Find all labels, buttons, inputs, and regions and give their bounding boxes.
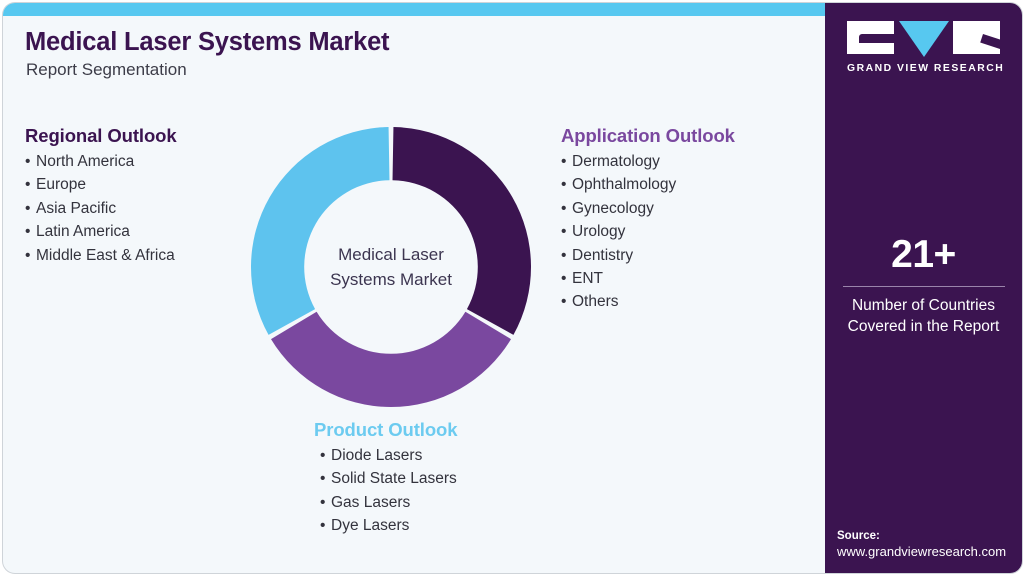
list-item-label: Asia Pacific — [36, 200, 116, 217]
logo-letter-g-icon — [847, 21, 894, 54]
list-item-label: Diode Lasers — [331, 447, 422, 464]
list-item-label: Solid State Lasers — [331, 470, 457, 487]
bullet-icon: • — [320, 514, 331, 537]
grand-view-research-logo: GRAND VIEW RESEARCH — [847, 21, 1000, 74]
application-outlook-heading: Application Outlook — [561, 125, 735, 147]
list-item-label: Latin America — [36, 223, 130, 240]
list-item: •North America — [25, 150, 177, 173]
bullet-icon: • — [561, 197, 572, 220]
list-item: •Latin America — [25, 220, 177, 243]
application-outlook-list: •Dermatology •Ophthalmology •Gynecology … — [561, 150, 735, 314]
page-subtitle: Report Segmentation — [26, 60, 187, 80]
infographic-root: Medical Laser Systems Market Report Segm… — [0, 0, 1025, 576]
list-item-label: Urology — [572, 223, 625, 240]
page-title: Medical Laser Systems Market — [25, 28, 389, 57]
product-outlook-list: •Diode Lasers •Solid State Lasers •Gas L… — [320, 444, 457, 538]
stat-label-line1: Number of Countries — [825, 296, 1022, 317]
logo-letter-v-icon — [899, 21, 949, 57]
product-outlook-block: Product Outlook •Diode Lasers •Solid Sta… — [314, 419, 457, 538]
list-item-label: Ophthalmology — [572, 176, 676, 193]
bullet-icon: • — [561, 290, 572, 313]
list-item: •Dye Lasers — [320, 514, 457, 537]
list-item-label: Dentistry — [572, 247, 633, 264]
bullet-icon: • — [561, 267, 572, 290]
donut-segment[interactable] — [271, 312, 511, 407]
donut-segment[interactable] — [251, 127, 389, 335]
logo-wordmark: GRAND VIEW RESEARCH — [847, 63, 1000, 74]
bullet-icon: • — [320, 444, 331, 467]
stat-divider — [843, 286, 1005, 287]
list-item: •Europe — [25, 173, 177, 196]
list-item-label: Others — [572, 293, 619, 310]
source-url[interactable]: www.grandviewresearch.com — [837, 544, 1022, 559]
report-card: Medical Laser Systems Market Report Segm… — [3, 3, 1022, 573]
donut-svg — [249, 125, 533, 409]
stat-value: 21+ — [825, 235, 1022, 274]
donut-segment[interactable] — [393, 127, 531, 335]
list-item: •Others — [561, 290, 735, 313]
bullet-icon: • — [561, 244, 572, 267]
bullet-icon: • — [25, 244, 36, 267]
list-item: •Diode Lasers — [320, 444, 457, 467]
list-item: •Solid State Lasers — [320, 467, 457, 490]
bullet-icon: • — [561, 150, 572, 173]
list-item-label: Europe — [36, 176, 86, 193]
list-item: •Ophthalmology — [561, 173, 735, 196]
list-item: •ENT — [561, 267, 735, 290]
regional-outlook-block: Regional Outlook •North America •Europe … — [25, 125, 177, 267]
segmentation-donut-chart: Medical Laser Systems Market — [249, 125, 533, 409]
product-outlook-heading: Product Outlook — [314, 419, 457, 441]
list-item-label: Gas Lasers — [331, 494, 410, 511]
top-accent-bar — [3, 3, 825, 16]
bullet-icon: • — [561, 220, 572, 243]
logo-letter-r-icon — [953, 21, 1000, 54]
logo-marks — [847, 21, 1000, 57]
application-outlook-block: Application Outlook •Dermatology •Ophtha… — [561, 125, 735, 314]
list-item: •Dentistry — [561, 244, 735, 267]
list-item-label: Gynecology — [572, 200, 654, 217]
bullet-icon: • — [561, 173, 572, 196]
main-content-area: Medical Laser Systems Market Report Segm… — [3, 16, 825, 573]
list-item: •Middle East & Africa — [25, 244, 177, 267]
source-block: Source: www.grandviewresearch.com — [837, 530, 1022, 559]
list-item-label: Middle East & Africa — [36, 247, 175, 264]
list-item: •Gas Lasers — [320, 491, 457, 514]
list-item: •Asia Pacific — [25, 197, 177, 220]
countries-stat-block: 21+ Number of Countries Covered in the R… — [825, 235, 1022, 337]
bullet-icon: • — [25, 150, 36, 173]
regional-outlook-heading: Regional Outlook — [25, 125, 177, 147]
stat-label-line2: Covered in the Report — [825, 317, 1022, 338]
bullet-icon: • — [320, 491, 331, 514]
regional-outlook-list: •North America •Europe •Asia Pacific •La… — [25, 150, 177, 267]
bullet-icon: • — [25, 197, 36, 220]
list-item: •Gynecology — [561, 197, 735, 220]
bullet-icon: • — [320, 467, 331, 490]
list-item: •Urology — [561, 220, 735, 243]
bullet-icon: • — [25, 220, 36, 243]
list-item: •Dermatology — [561, 150, 735, 173]
list-item-label: ENT — [572, 270, 603, 287]
list-item-label: Dye Lasers — [331, 517, 409, 534]
list-item-label: Dermatology — [572, 153, 660, 170]
list-item-label: North America — [36, 153, 134, 170]
side-panel: GRAND VIEW RESEARCH 21+ Number of Countr… — [825, 3, 1022, 573]
bullet-icon: • — [25, 173, 36, 196]
source-label: Source: — [837, 530, 1022, 542]
